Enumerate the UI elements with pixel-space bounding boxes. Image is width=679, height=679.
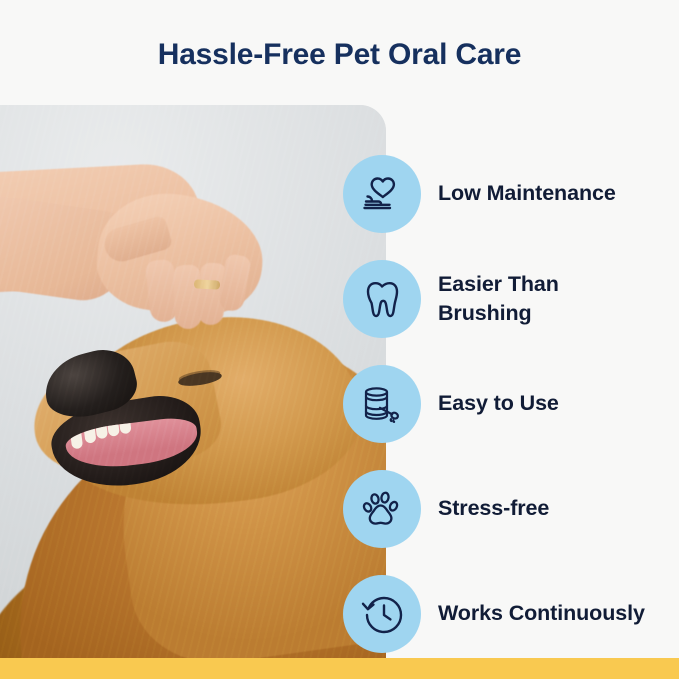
feature-item-low-maintenance: Low Maintenance — [343, 141, 679, 246]
feature-label: Easier Than Brushing — [438, 270, 648, 327]
paw-print-icon — [343, 470, 421, 548]
feature-item-easy-to-use: Easy to Use — [343, 351, 679, 456]
tooth-icon — [343, 260, 421, 338]
feature-item-easier-than-brushing: Easier Than Brushing — [343, 246, 679, 351]
feature-list: Low Maintenance Easier Than Brushing — [343, 141, 679, 666]
finger-ring — [194, 279, 220, 289]
feature-item-stress-free: Stress-free — [343, 456, 679, 561]
hand-holding-heart-icon — [343, 155, 421, 233]
jar-with-scoop-icon — [343, 365, 421, 443]
feature-label: Works Continuously — [438, 599, 645, 627]
feature-item-works-continuously: Works Continuously — [343, 561, 679, 666]
hero-photo — [0, 105, 386, 658]
clock-rotate-icon — [343, 575, 421, 653]
accent-bottom-bar — [0, 658, 679, 679]
infographic-panel: Hassle-Free Pet Oral Care — [0, 0, 679, 679]
feature-label: Stress-free — [438, 494, 549, 522]
page-title: Hassle-Free Pet Oral Care — [0, 38, 679, 72]
feature-label: Low Maintenance — [438, 179, 616, 207]
feature-label: Easy to Use — [438, 389, 559, 417]
